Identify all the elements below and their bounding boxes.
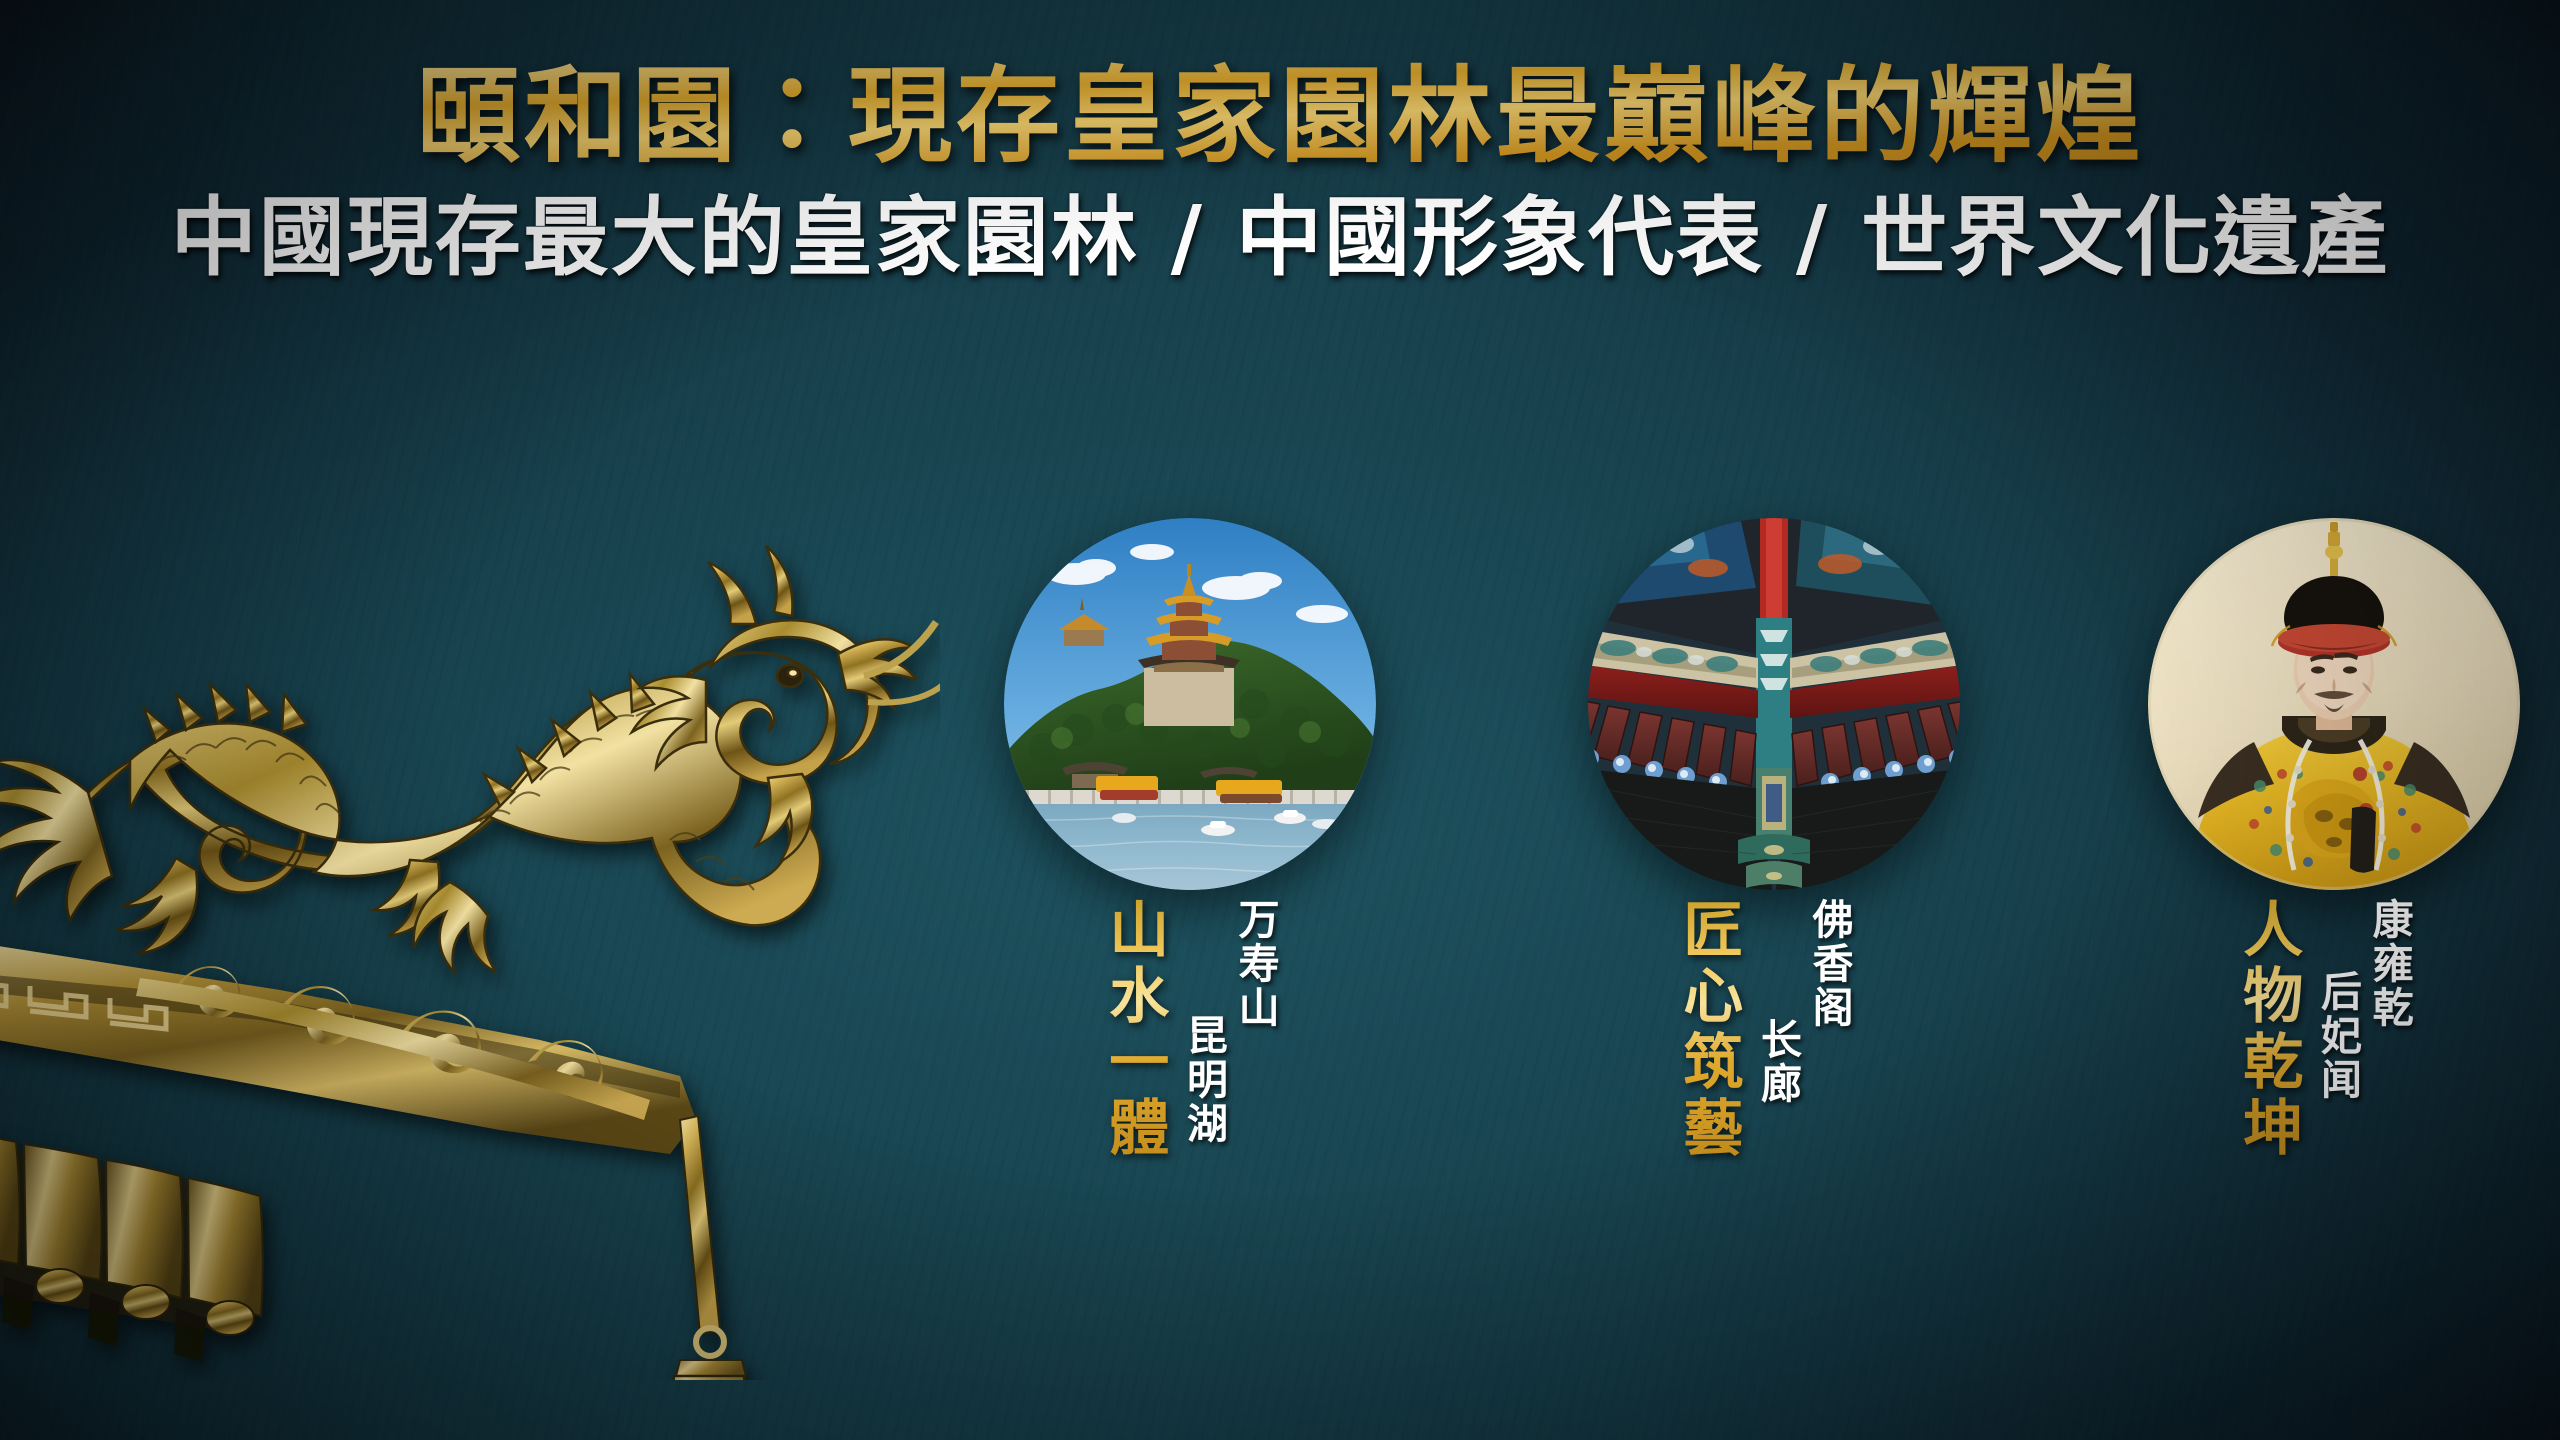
card-2-title: 匠心筑藝 [1672,898,1743,1162]
card-1-title: 山水一體 [1098,898,1169,1162]
card-3-note-2: 后妃闻 [2311,970,2363,1102]
bell-assembly [646,1116,778,1380]
dragon-figure [0,546,940,972]
qing-emperor-portrait-photo [2148,518,2520,890]
poster-canvas: 頤和園：現存皇家園林最巔峰的輝煌 中國現存最大的皇家園林 / 中國形象代表 / … [0,0,2560,1440]
card-3-notes: 康雍乾 后妃闻 [2311,898,2414,1102]
card-2-note-2: 长廊 [1751,1018,1803,1106]
page-subtitle: 中國現存最大的皇家園林 / 中國形象代表 / 世界文化遺產 [0,187,2560,288]
longevity-hill-kunming-lake-photo [1004,518,1376,890]
title-block: 頤和園：現存皇家園林最巔峰的輝煌 中國現存最大的皇家園林 / 中國形象代表 / … [0,0,2560,288]
painted-eaves-dougong-photo [1588,518,1960,890]
card-3-note-1: 康雍乾 [2362,898,2414,1102]
card-caption-1: 万寿山 昆明湖 山水一體 [1098,898,1280,1162]
page-title: 頤和園：現存皇家園林最巔峰的輝煌 [0,0,2560,177]
card-caption-3: 康雍乾 后妃闻 人物乾坤 [2232,898,2414,1162]
card-3-title: 人物乾坤 [2232,898,2303,1162]
card-1-note-1: 万寿山 [1228,898,1280,1146]
card-caption-2: 佛香阁 长廊 匠心筑藝 [1672,898,1854,1162]
card-2-notes: 佛香阁 长廊 [1751,898,1854,1106]
dragon-head [632,546,940,784]
card-2-note-1: 佛香阁 [1802,898,1854,1106]
golden-dragon-roof-ornament [0,430,940,1380]
card-1-note-2: 昆明湖 [1177,1014,1229,1146]
card-1-notes: 万寿山 昆明湖 [1177,898,1280,1146]
roof-tiles [0,1130,263,1362]
